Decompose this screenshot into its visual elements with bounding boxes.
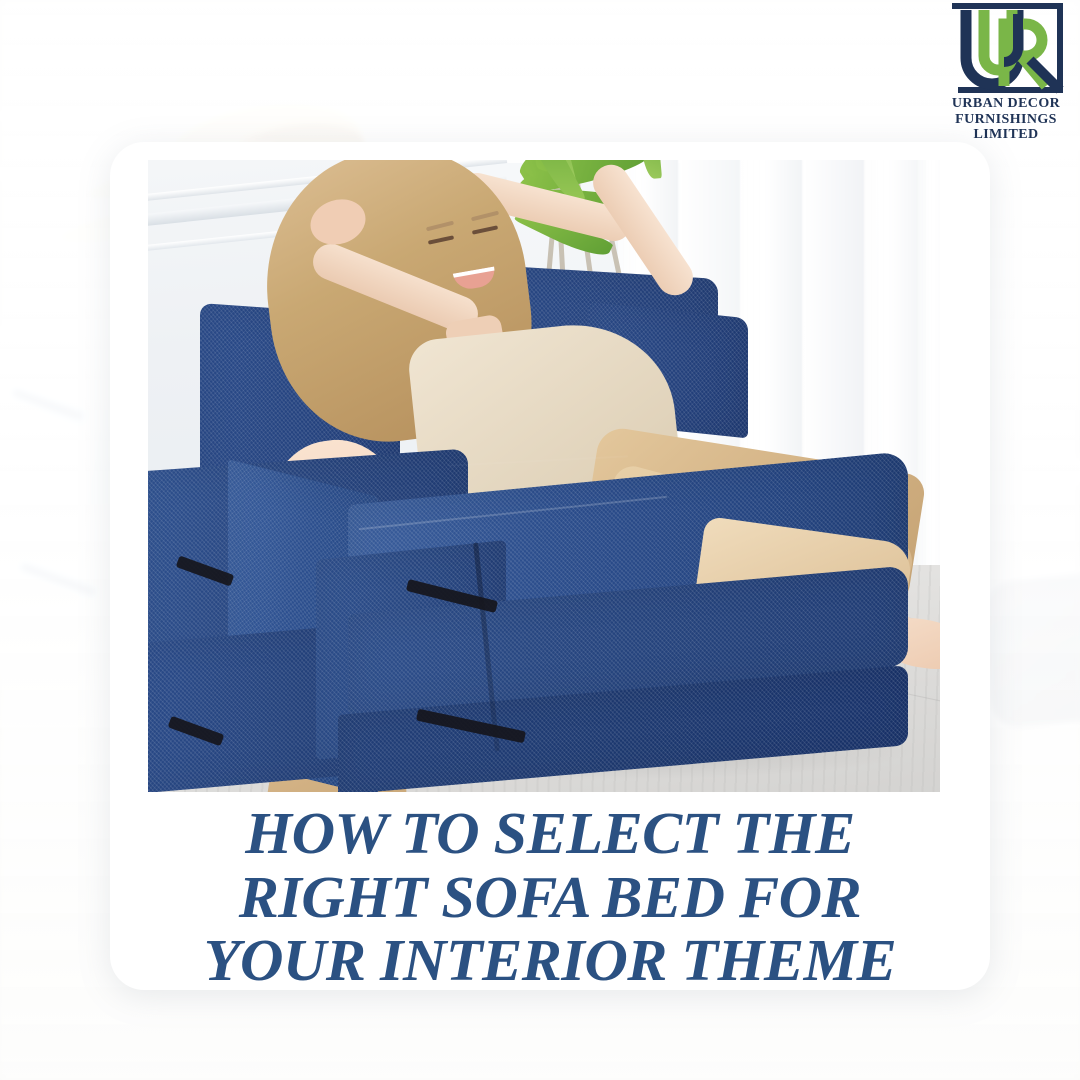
hero-photo: [148, 160, 940, 792]
logo-wordmark: URBAN DECOR FURNISHINGS LIMITED: [936, 96, 1076, 143]
headline-line-1: HOW TO SELECT THE: [142, 802, 958, 866]
brand-logo[interactable]: URBAN DECOR FURNISHINGS LIMITED: [936, 2, 1076, 143]
page-title: HOW TO SELECT THE RIGHT SOFA BED FOR YOU…: [150, 802, 950, 990]
content-card: HOW TO SELECT THE RIGHT SOFA BED FOR YOU…: [110, 142, 990, 990]
headline-line-2: RIGHT SOFA BED FOR: [142, 866, 958, 930]
poster-canvas: HOW TO SELECT THE RIGHT SOFA BED FOR YOU…: [0, 0, 1080, 1080]
logo-line-2: FURNISHINGS LIMITED: [936, 112, 1076, 143]
sofa-strap: [168, 716, 225, 746]
logo-line-1: URBAN DECOR: [936, 96, 1076, 112]
headline-line-3: YOUR INTERIOR THEME: [142, 929, 958, 990]
photo-sofa-bed-base: [148, 160, 940, 792]
logo-monogram-icon: [942, 2, 1070, 94]
sofa-strap: [176, 555, 235, 586]
